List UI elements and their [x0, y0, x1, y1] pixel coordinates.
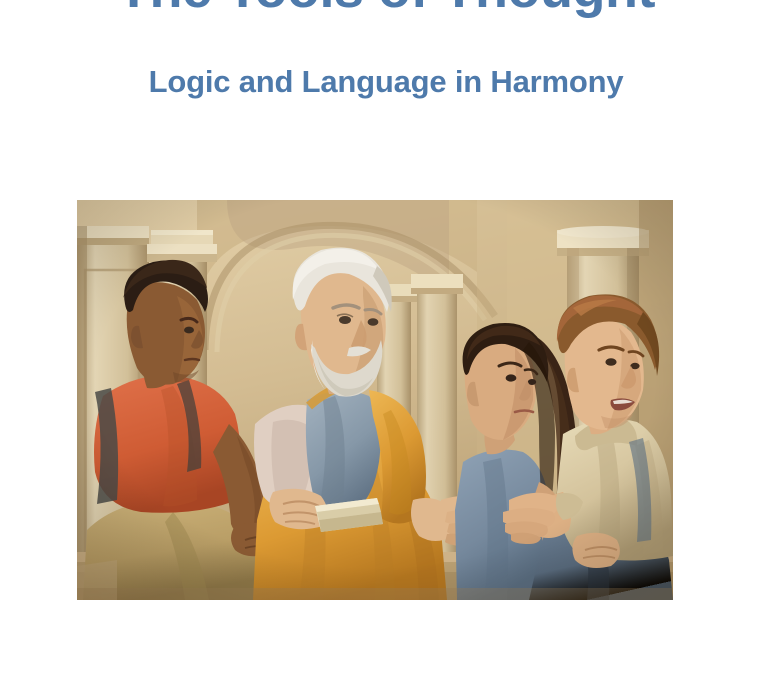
page-title: The Tools of Thought: [0, 0, 772, 18]
page-subtitle: Logic and Language in Harmony: [0, 64, 772, 100]
cover-illustration: [77, 200, 673, 600]
illustration-canvas: [77, 200, 673, 600]
book-cover-page: The Tools of Thought Logic and Language …: [0, 0, 772, 675]
title-container: The Tools of Thought: [0, 0, 772, 18]
subtitle-container: Logic and Language in Harmony: [0, 64, 772, 100]
